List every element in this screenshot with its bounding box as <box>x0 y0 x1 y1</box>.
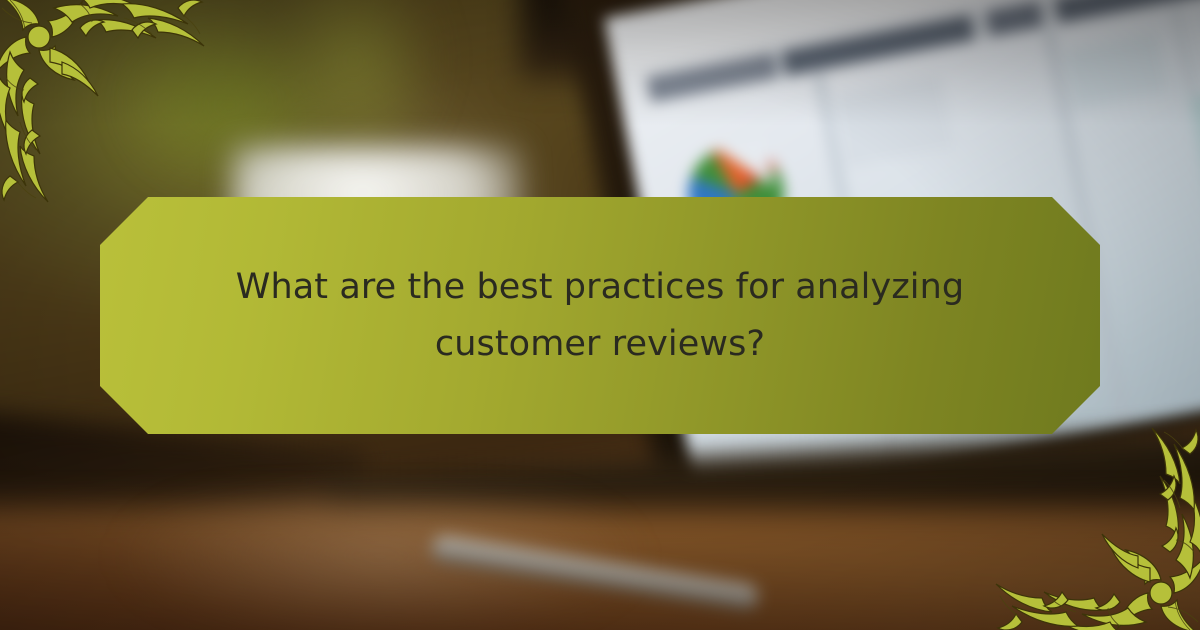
question-banner: What are the best practices for analyzin… <box>100 197 1100 434</box>
question-headline: What are the best practices for analyzin… <box>140 259 1060 372</box>
share-card: What are the best practices for analyzin… <box>0 0 1200 630</box>
